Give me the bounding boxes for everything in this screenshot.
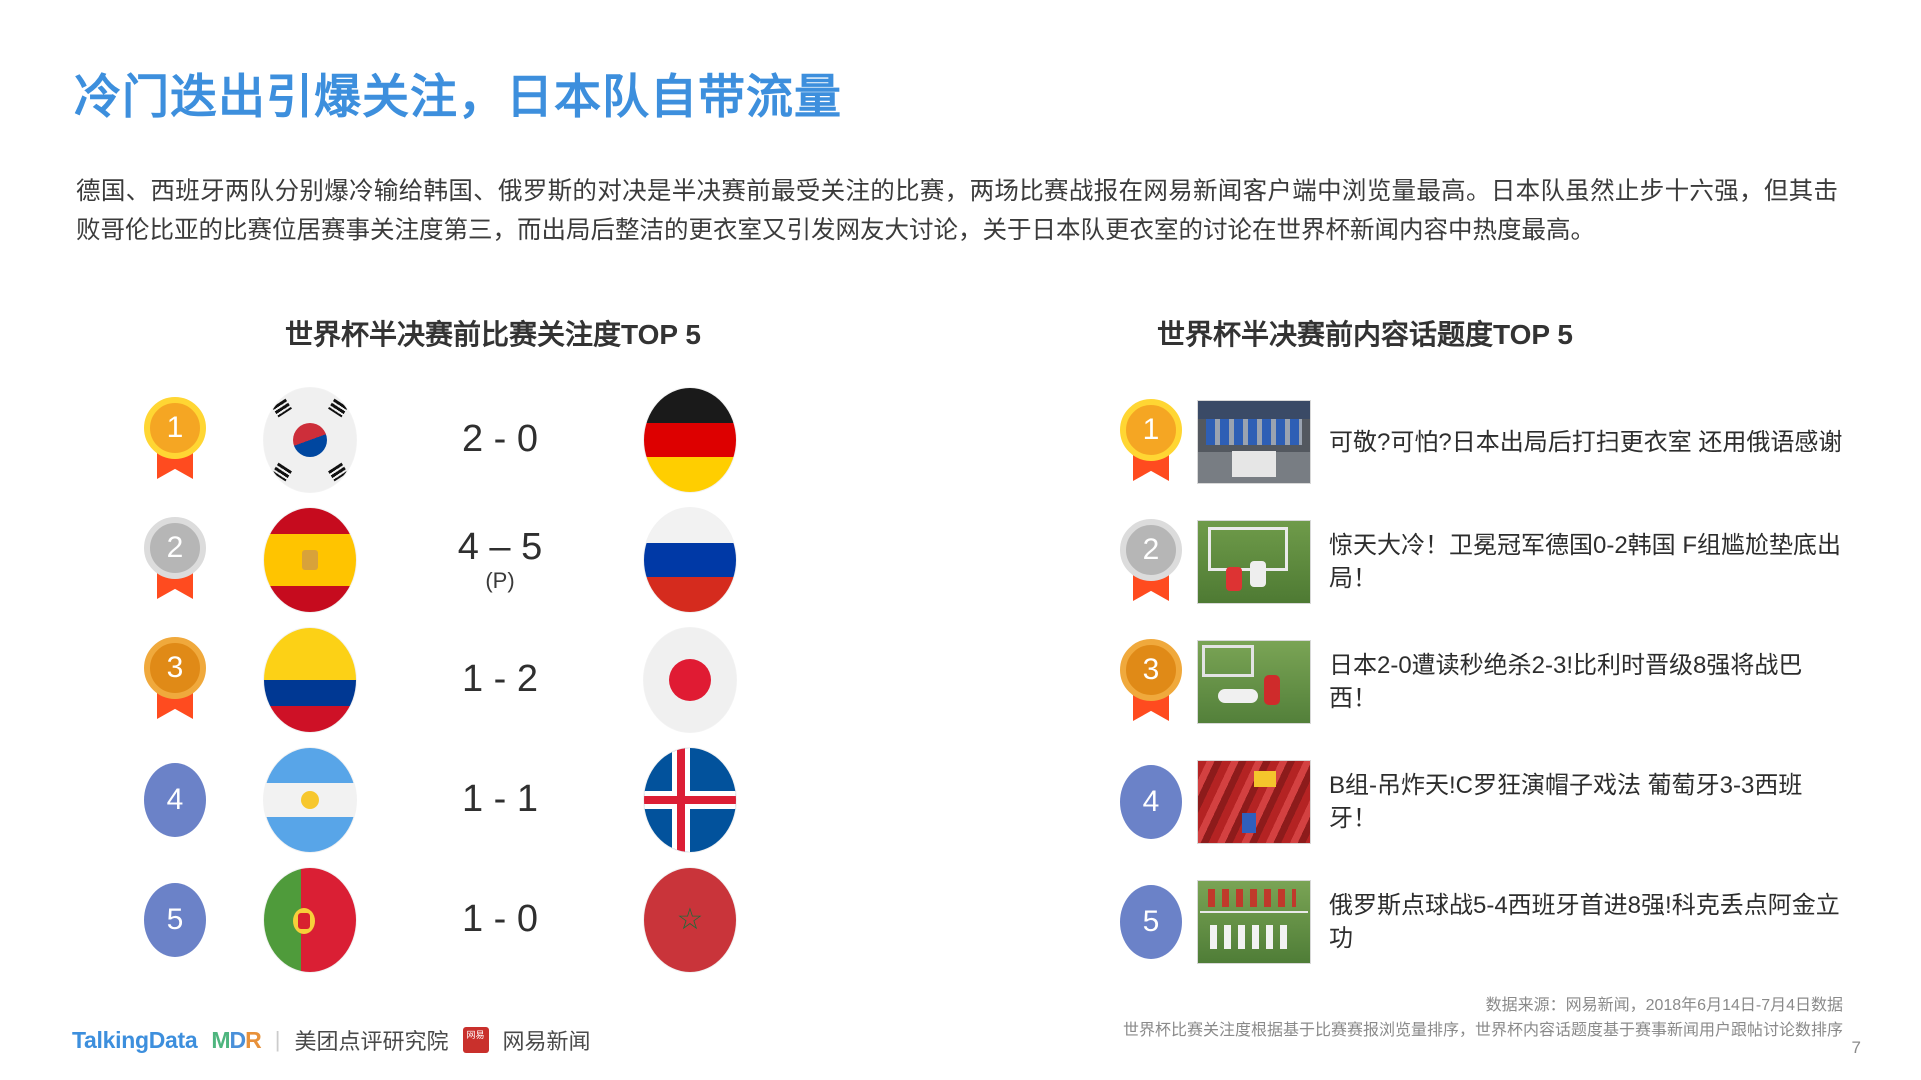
- match-rank-cell: 2: [120, 517, 230, 603]
- rank-badge-4: 4: [144, 763, 206, 837]
- news-rank-cell: 4: [1105, 765, 1197, 839]
- news-ranking-list: 1 可敬?可怕?日本出局后打扫更衣室 还用俄语感谢 2 惊天大冷！卫冕冠军德国0…: [1105, 382, 1895, 982]
- news-thumbnail-players-on-pitch-photo: [1197, 640, 1311, 724]
- news-thumbnail-celebration-photo: [1197, 880, 1311, 964]
- score-note: (P): [390, 569, 610, 592]
- logo-divider: |: [275, 1027, 281, 1053]
- news-row[interactable]: 2 惊天大冷！卫冕冠军德国0-2韩国 F组尴尬垫底出局！: [1105, 502, 1895, 622]
- away-team-cell: [610, 508, 770, 612]
- slide: 冷门迭出引爆关注，日本队自带流量 德国、西班牙两队分别爆冷输给韩国、俄罗斯的对决…: [0, 0, 1921, 1080]
- flag-icon-iceland: [644, 748, 736, 852]
- score-value: 1 - 1: [462, 778, 538, 820]
- medal-icon-1: 1: [144, 397, 206, 483]
- meituan-logo-label: 美团点评研究院: [295, 1024, 449, 1056]
- flag-icon-russia: [644, 508, 736, 612]
- flag-icon-japan: [644, 628, 736, 732]
- medal-number: 2: [1120, 519, 1182, 581]
- flag-icon-spain: [264, 508, 356, 612]
- flag-icon-morocco: ☆: [644, 868, 736, 972]
- intro-paragraph: 德国、西班牙两队分别爆冷输给韩国、俄罗斯的对决是半决赛前最受关注的比赛，两场比赛…: [76, 172, 1838, 250]
- away-team-cell: [610, 628, 770, 732]
- match-row: 5 1 - 0 ☆: [120, 860, 920, 980]
- away-team-cell: [610, 388, 770, 492]
- news-headline[interactable]: 俄罗斯点球战5-4西班牙首进8强!科克丢点阿金立功: [1329, 889, 1849, 955]
- match-rank-cell: 1: [120, 397, 230, 483]
- news-headline[interactable]: 可敬?可怕?日本出局后打扫更衣室 还用俄语感谢: [1329, 426, 1849, 459]
- score-value: 4 – 5: [458, 526, 543, 568]
- news-row[interactable]: 4 B组-吊炸天!C罗狂演帽子戏法 葡萄牙3-3西班牙！: [1105, 742, 1895, 862]
- score-value: 1 - 2: [462, 658, 538, 700]
- news-thumbnail-locker-room-photo: [1197, 400, 1311, 484]
- away-team-cell: ☆: [610, 868, 770, 972]
- netease-logo-label: 网易新闻: [503, 1024, 591, 1056]
- flag-icon-portugal: [264, 868, 356, 972]
- match-score: 2 - 0: [390, 420, 610, 460]
- source-note: 数据来源：网易新闻，2018年6月14日-7月4日数据 世界杯比赛关注度根据基于…: [1123, 993, 1843, 1043]
- match-score: 1 - 2: [390, 660, 610, 700]
- medal-icon-2: 2: [144, 517, 206, 603]
- match-score: 1 - 0: [390, 900, 610, 940]
- news-headline[interactable]: B组-吊炸天!C罗狂演帽子戏法 葡萄牙3-3西班牙！: [1329, 769, 1849, 835]
- medal-number: 1: [144, 397, 206, 459]
- flag-icon-argentina: [264, 748, 356, 852]
- rank-badge-5: 5: [144, 883, 206, 957]
- match-row: 2 4 – 5 (P): [120, 500, 920, 620]
- match-rank-cell: 5: [120, 883, 230, 957]
- home-team-cell: [230, 748, 390, 852]
- news-thumbnail-goal-mouth-photo: [1197, 520, 1311, 604]
- news-row[interactable]: 1 可敬?可怕?日本出局后打扫更衣室 还用俄语感谢: [1105, 382, 1895, 502]
- medal-number: 1: [1120, 399, 1182, 461]
- medal-icon-3: 3: [144, 637, 206, 723]
- match-rank-cell: 3: [120, 637, 230, 723]
- page-title: 冷门迭出引爆关注，日本队自带流量: [74, 58, 842, 127]
- news-headline[interactable]: 日本2-0遭读秒绝杀2-3!比利时晋级8强将战巴西！: [1329, 649, 1849, 715]
- medal-number: 2: [144, 517, 206, 579]
- rank-badge-5: 5: [1120, 885, 1182, 959]
- netease-badge-icon: 网易: [463, 1027, 489, 1053]
- flag-icon-germany: [644, 388, 736, 492]
- medal-number: 3: [1120, 639, 1182, 701]
- match-score: 1 - 1: [390, 780, 610, 820]
- section-title-news: 世界杯半决赛前内容话题度TOP 5: [1157, 313, 1573, 353]
- source-line-1: 数据来源：网易新闻，2018年6月14日-7月4日数据: [1123, 993, 1843, 1018]
- score-value: 2 - 0: [462, 418, 538, 460]
- flag-icon-south-korea: [264, 388, 356, 492]
- news-rank-cell: 3: [1105, 639, 1197, 725]
- home-team-cell: [230, 628, 390, 732]
- mdr-logo: MDR: [211, 1027, 260, 1054]
- score-value: 1 - 0: [462, 898, 538, 940]
- match-row: 1 2 - 0: [120, 380, 920, 500]
- match-rank-cell: 4: [120, 763, 230, 837]
- news-rank-cell: 2: [1105, 519, 1197, 605]
- home-team-cell: [230, 508, 390, 612]
- home-team-cell: [230, 388, 390, 492]
- source-line-2: 世界杯比赛关注度根据基于比赛赛报浏览量排序，世界杯内容话题度基于赛事新闻用户跟帖…: [1123, 1018, 1843, 1043]
- medal-icon-2: 2: [1120, 519, 1182, 605]
- rank-badge-4: 4: [1120, 765, 1182, 839]
- news-row[interactable]: 5 俄罗斯点球战5-4西班牙首进8强!科克丢点阿金立功: [1105, 862, 1895, 982]
- match-row: 4 1 - 1: [120, 740, 920, 860]
- news-thumbnail-red-crowd-photo: [1197, 760, 1311, 844]
- footer-logos: TalkingData MDR | 美团点评研究院 网易 网易新闻: [72, 1024, 591, 1056]
- match-score: 4 – 5 (P): [390, 528, 610, 593]
- away-team-cell: [610, 748, 770, 852]
- news-rank-cell: 1: [1105, 399, 1197, 485]
- medal-number: 3: [144, 637, 206, 699]
- home-team-cell: [230, 868, 390, 972]
- page-number: 7: [1852, 1038, 1861, 1058]
- flag-icon-colombia: [264, 628, 356, 732]
- match-row: 3 1 - 2: [120, 620, 920, 740]
- section-title-matches: 世界杯半决赛前比赛关注度TOP 5: [285, 313, 701, 353]
- medal-icon-1: 1: [1120, 399, 1182, 485]
- talkingdata-logo: TalkingData: [72, 1027, 197, 1054]
- match-ranking-list: 1 2 - 0 2: [120, 380, 920, 980]
- news-headline[interactable]: 惊天大冷！卫冕冠军德国0-2韩国 F组尴尬垫底出局！: [1329, 529, 1849, 595]
- medal-icon-3: 3: [1120, 639, 1182, 725]
- news-row[interactable]: 3 日本2-0遭读秒绝杀2-3!比利时晋级8强将战巴西！: [1105, 622, 1895, 742]
- news-rank-cell: 5: [1105, 885, 1197, 959]
